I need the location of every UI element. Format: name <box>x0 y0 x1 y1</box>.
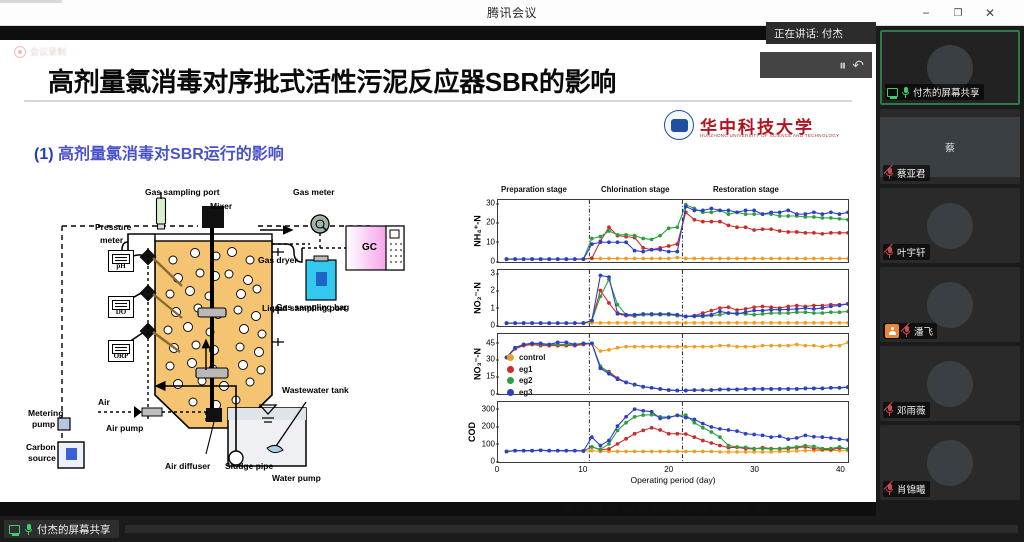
participant-namebar: 肖锦曦 <box>883 481 930 497</box>
stage-label-chlorination: Chlorination stage <box>601 185 669 194</box>
microphone-icon[interactable] <box>901 87 910 98</box>
label-metering-pump: pump <box>32 420 55 430</box>
label-pressure: Pressure <box>95 223 131 233</box>
recording-dot-icon <box>14 46 26 58</box>
participant-name: 蔡亚君 <box>897 166 926 180</box>
label-gas-dryer: Gas dryer <box>258 256 298 266</box>
y-tick-1-3: 3 <box>491 269 495 278</box>
bottom-share-label: 付杰的屏幕共享 <box>37 522 111 537</box>
ph-meter-box: pH <box>108 250 134 272</box>
label-pressure-meter: meter <box>100 236 123 246</box>
y-tick-1-0: 0 <box>491 321 495 330</box>
label-gc: GC <box>362 242 377 254</box>
orp-meter-label: ORP <box>114 353 129 361</box>
y-tick-3-200: 200 <box>482 422 495 431</box>
y-tick-1-1: 1 <box>491 303 495 312</box>
panel-nh4n: NH₄⁺-N0102030 <box>497 199 849 263</box>
x-tick-10: 10 <box>578 465 587 474</box>
label-metering: Metering <box>28 409 63 419</box>
do-meter-label: DO <box>116 309 127 317</box>
participant-tile[interactable]: 付杰的屏幕共享 <box>880 30 1020 105</box>
y-tick-2-45: 45 <box>486 338 495 347</box>
legend-item-eg1: eg1 <box>507 365 545 374</box>
y-tick-0-0: 0 <box>491 257 495 266</box>
panel-plot-2 <box>498 334 848 394</box>
titlebar-tab-stub <box>0 0 62 3</box>
legend-swatch-eg2 <box>507 377 514 384</box>
label-air-diffuser: Air diffuser <box>165 462 210 472</box>
microphone-muted-icon[interactable] <box>885 484 894 495</box>
slide-title: 高剂量氯消毒对序批式活性污泥反应器SBR的影响 <box>48 62 668 99</box>
series-line-eg1 <box>507 343 848 390</box>
exit-share-icon[interactable]: ↶ <box>852 57 864 74</box>
speaking-toast: 正在讲话: 付杰 <box>766 22 876 44</box>
participant-tile[interactable]: 邓雨薇 <box>880 346 1020 421</box>
participant-tile[interactable]: 肖锦曦 <box>880 425 1020 500</box>
participant-tile[interactable]: 叶宇轩 <box>880 188 1020 263</box>
avatar <box>927 282 973 328</box>
y-tick-2-30: 30 <box>486 355 495 364</box>
window-title: 腾讯会议 <box>487 4 537 21</box>
series-line-eg3 <box>507 342 848 390</box>
avatar <box>927 361 973 407</box>
university-logo: 华中科技大学 HUAZHONG UNIVERSITY OF SCIENCE AN… <box>664 110 814 140</box>
x-tick-0: 0 <box>495 465 499 474</box>
maximize-button[interactable]: ❐ <box>944 0 972 26</box>
orp-meter-box: ORP <box>108 340 134 362</box>
series-line-eg2 <box>507 343 848 390</box>
legend-swatch-control <box>507 354 514 361</box>
sbr-performance-figure: Preparation stage Chlorination stage Res… <box>455 185 865 500</box>
legend-item-eg2: eg2 <box>507 376 545 385</box>
panel-plot-1 <box>498 270 848 326</box>
participant-rail[interactable]: 付杰的屏幕共享蔡蔡亚君叶宇轩潘飞邓雨薇肖锦曦 <box>876 26 1024 516</box>
x-tick-30: 30 <box>750 465 759 474</box>
screen-share-icon <box>9 525 20 534</box>
participant-namebar: 蔡亚君 <box>883 165 930 181</box>
screen-share-icon <box>887 88 898 97</box>
sbr-reactor-schematic: Gas sampling port Mixer Gas meter Pressu… <box>10 190 450 500</box>
label-gas-sampling-port: Gas sampling port <box>145 188 220 198</box>
label-sludge-pipe: Sludge pipe <box>225 462 273 472</box>
panel-cod: COD0100200300 <box>497 401 849 463</box>
label-mixer: Mixer <box>210 202 232 212</box>
bottom-bar: 付杰的屏幕共享 <box>0 516 1024 542</box>
panel-no2n: NO₂⁻-N0123 <box>497 269 849 327</box>
subtitle-text: 高剂量氯消毒对SBR运行的影响 <box>58 146 284 163</box>
avatar <box>927 440 973 486</box>
share-control-overlay[interactable]: ⏸ ↶ <box>760 52 872 78</box>
minimize-button[interactable]: − <box>912 0 940 26</box>
recording-badge-label: 会议录制 <box>30 45 66 58</box>
do-meter-box: DO <box>108 296 134 318</box>
label-air-pump: Air pump <box>106 424 143 434</box>
chart-legend: controleg1eg2eg3 <box>507 353 545 399</box>
participant-name: 叶宇轩 <box>897 245 926 259</box>
participant-namebar: 叶宇轩 <box>883 244 930 260</box>
participant-namebar: 邓雨薇 <box>883 402 930 418</box>
label-liquid-sampling-port: Liquid sampling port <box>262 304 346 314</box>
y-axis-label-0: NH₄⁺-N <box>472 215 483 247</box>
participant-namebar: 潘飞 <box>883 323 937 339</box>
legend-label-eg2: eg2 <box>519 376 532 385</box>
y-tick-0-30: 30 <box>486 199 495 208</box>
legend-item-eg3: eg3 <box>507 388 545 397</box>
y-tick-3-100: 100 <box>482 439 495 448</box>
label-gas-meter: Gas meter <box>293 188 335 198</box>
label-air: Air <box>98 398 110 408</box>
subtitle-number: (1) <box>34 146 54 163</box>
y-axis-label-1: NO₂⁻-N <box>472 282 483 314</box>
presentation-slide: 会议录制 高剂量氯消毒对序批式活性污泥反应器SBR的影响 (1) 高剂量氯消毒对… <box>0 40 876 502</box>
y-tick-2-0: 0 <box>491 389 495 398</box>
host-badge-icon <box>885 324 899 338</box>
label-carbon: Carbon <box>26 443 56 453</box>
participant-tile[interactable]: 潘飞 <box>880 267 1020 342</box>
close-button[interactable]: ✕ <box>976 0 1004 26</box>
logo-seal-icon <box>664 110 694 140</box>
y-tick-0-10: 10 <box>486 237 495 246</box>
participant-name: 肖锦曦 <box>897 482 926 496</box>
participant-name: 潘飞 <box>914 324 933 338</box>
shared-screen-stage: 会议录制 高剂量氯消毒对序批式活性污泥反应器SBR的影响 (1) 高剂量氯消毒对… <box>0 26 876 516</box>
legend-swatch-eg3 <box>507 389 514 396</box>
participant-name: 付杰的屏幕共享 <box>913 85 980 99</box>
bottom-scroll-track[interactable] <box>125 525 1019 533</box>
panel-plot-0 <box>498 200 848 262</box>
label-wastewater-tank: Wastewater tank <box>282 386 349 396</box>
y-axis-label-2: NO₃⁻-N <box>472 348 483 380</box>
x-axis-label: Operating period (day) <box>630 475 715 485</box>
x-axis: 010203040Operating period (day) <box>497 463 849 487</box>
bottom-share-chip[interactable]: 付杰的屏幕共享 <box>4 520 119 538</box>
y-tick-2-15: 15 <box>486 372 495 381</box>
panel-no3n: NO₃⁻-N0153045 <box>497 333 849 395</box>
microphone-icon <box>24 524 33 535</box>
microphone-muted-icon[interactable] <box>902 326 911 337</box>
schematic-drawing <box>10 190 450 500</box>
legend-label-eg3: eg3 <box>519 388 532 397</box>
stage-label-preparation: Preparation stage <box>501 185 567 194</box>
legend-item-control: control <box>507 353 545 362</box>
participant-namebar: 付杰的屏幕共享 <box>885 84 984 100</box>
recording-badge: 会议录制 <box>14 45 66 58</box>
legend-label-eg1: eg1 <box>519 365 532 374</box>
participant-name: 邓雨薇 <box>897 403 926 417</box>
legend-swatch-eg1 <box>507 366 514 373</box>
y-tick-3-300: 300 <box>482 404 495 413</box>
slide-subtitle: (1) 高剂量氯消毒对SBR运行的影响 <box>34 140 284 164</box>
x-tick-20: 20 <box>664 465 673 474</box>
microphone-muted-icon[interactable] <box>885 168 894 179</box>
label-water-pump: Water pump <box>272 474 321 484</box>
y-tick-1-2: 2 <box>491 286 495 295</box>
label-carbon-source: source <box>28 454 56 464</box>
avatar <box>927 203 973 249</box>
x-tick-40: 40 <box>836 465 845 474</box>
participant-tile[interactable]: 蔡蔡亚君 <box>880 109 1020 184</box>
y-tick-0-20: 20 <box>486 218 495 227</box>
panel-plot-3 <box>498 402 848 462</box>
stage-label-restoration: Restoration stage <box>713 185 779 194</box>
title-divider <box>24 100 852 102</box>
y-axis-label-3: COD <box>467 422 477 442</box>
microphone-muted-icon[interactable] <box>885 247 894 258</box>
legend-label-control: control <box>519 353 545 362</box>
logo-english-name: HUAZHONG UNIVERSITY OF SCIENCE AND TECHN… <box>700 133 839 138</box>
avatar-placeholder-text: 蔡 <box>945 139 955 154</box>
ph-meter-label: pH <box>116 263 125 271</box>
tencent-meeting-window: 腾讯会议 − ❐ ✕ 会议录制 高剂量氯消毒对序批式活性污泥反应器SBR的影响 … <box>0 0 1024 542</box>
pause-share-icon[interactable]: ⏸ <box>839 57 846 74</box>
microphone-muted-icon[interactable] <box>885 405 894 416</box>
